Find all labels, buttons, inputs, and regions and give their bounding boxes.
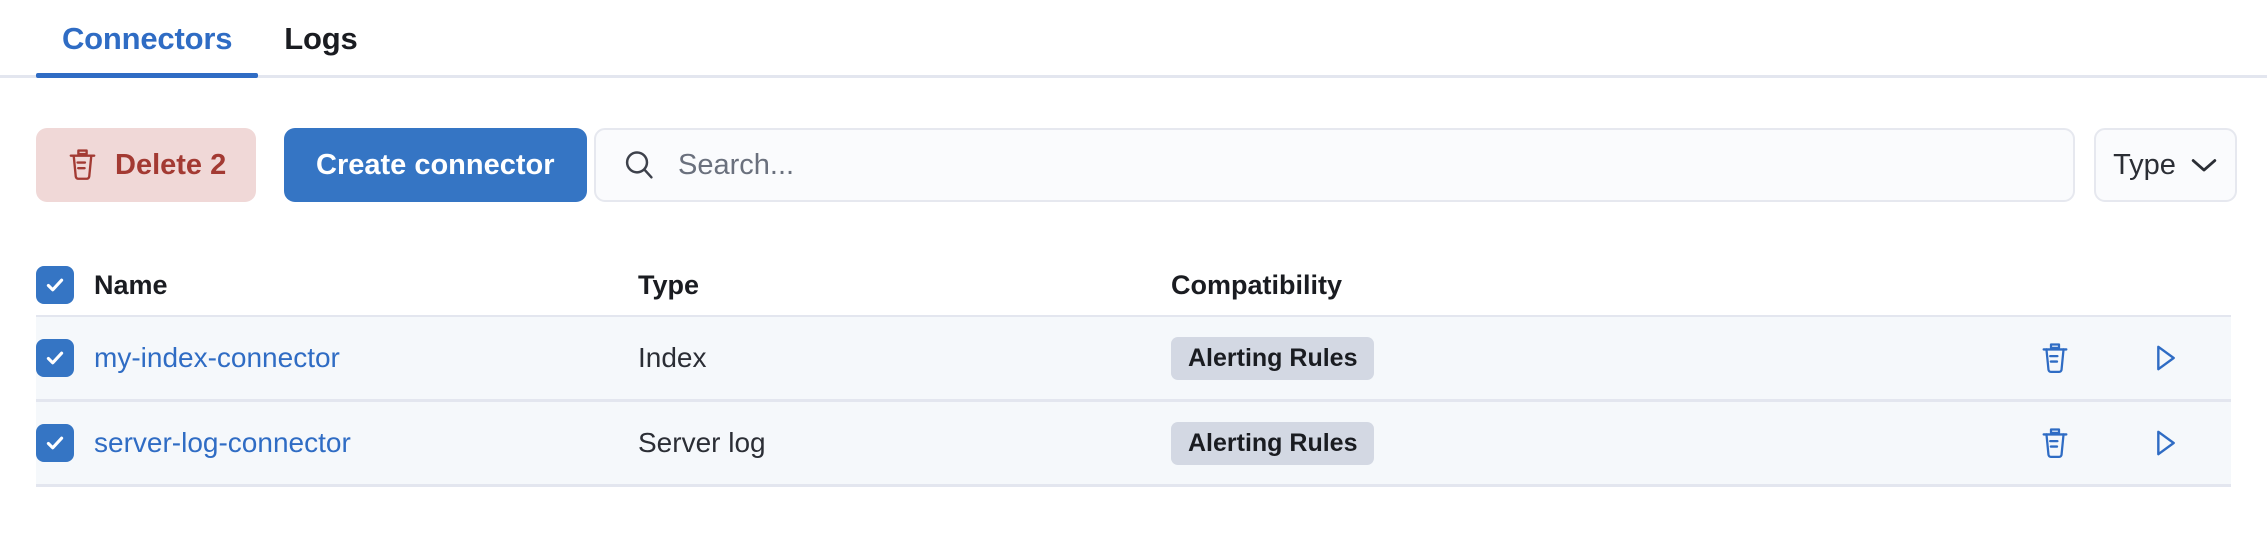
connectors-page: Connectors Logs Delete 2 Create connecto [0, 0, 2267, 537]
chevron-down-icon [2190, 156, 2218, 174]
row-name-cell: my-index-connector [94, 342, 638, 374]
column-header-name: Name [94, 270, 638, 301]
row-checkbox[interactable] [36, 424, 74, 462]
column-header-type: Type [638, 270, 1171, 301]
toolbar: Delete 2 Create connector Type [0, 128, 2267, 202]
row-actions-cell [1971, 421, 2231, 465]
create-connector-label: Create connector [316, 149, 555, 182]
delete-button-label: Delete 2 [115, 149, 226, 182]
row-select-cell [36, 424, 94, 462]
row-name-cell: server-log-connector [94, 427, 638, 459]
row-compatibility-cell: Alerting Rules [1171, 422, 1971, 465]
status-badge: Alerting Rules [1171, 337, 1374, 380]
run-icon[interactable] [2143, 336, 2187, 380]
trash-icon[interactable] [2033, 336, 2077, 380]
row-compatibility-cell: Alerting Rules [1171, 337, 1971, 380]
connectors-table: Name Type Compatibility my-index-connect… [36, 255, 2231, 487]
row-actions-cell [1971, 336, 2231, 380]
tab-logs-label: Logs [284, 21, 357, 57]
row-checkbox[interactable] [36, 339, 74, 377]
select-all-cell [36, 266, 94, 304]
trash-icon[interactable] [2033, 421, 2077, 465]
tab-connectors-label: Connectors [62, 21, 232, 57]
column-header-compatibility: Compatibility [1171, 270, 1971, 301]
create-connector-button[interactable]: Create connector [284, 128, 587, 202]
delete-button[interactable]: Delete 2 [36, 128, 256, 202]
connector-name-link[interactable]: my-index-connector [94, 342, 340, 373]
search-box[interactable] [594, 128, 2075, 202]
row-type-cell: Index [638, 342, 1171, 374]
table-header-row: Name Type Compatibility [36, 255, 2231, 317]
table-row: my-index-connector Index Alerting Rules [36, 317, 2231, 402]
row-select-cell [36, 339, 94, 377]
select-all-checkbox[interactable] [36, 266, 74, 304]
search-input[interactable] [678, 130, 2073, 200]
connector-name-link[interactable]: server-log-connector [94, 427, 351, 458]
row-type-cell: Server log [638, 427, 1171, 459]
search-icon [622, 148, 656, 182]
run-icon[interactable] [2143, 421, 2187, 465]
type-filter-label: Type [2113, 149, 2176, 182]
tab-bar: Connectors Logs [0, 0, 2267, 78]
type-filter-button[interactable]: Type [2094, 128, 2237, 202]
tab-connectors[interactable]: Connectors [36, 0, 258, 78]
status-badge: Alerting Rules [1171, 422, 1374, 465]
trash-icon [66, 147, 99, 183]
tab-logs[interactable]: Logs [258, 0, 383, 78]
table-row: server-log-connector Server log Alerting… [36, 402, 2231, 487]
tab-list: Connectors Logs [36, 0, 384, 78]
